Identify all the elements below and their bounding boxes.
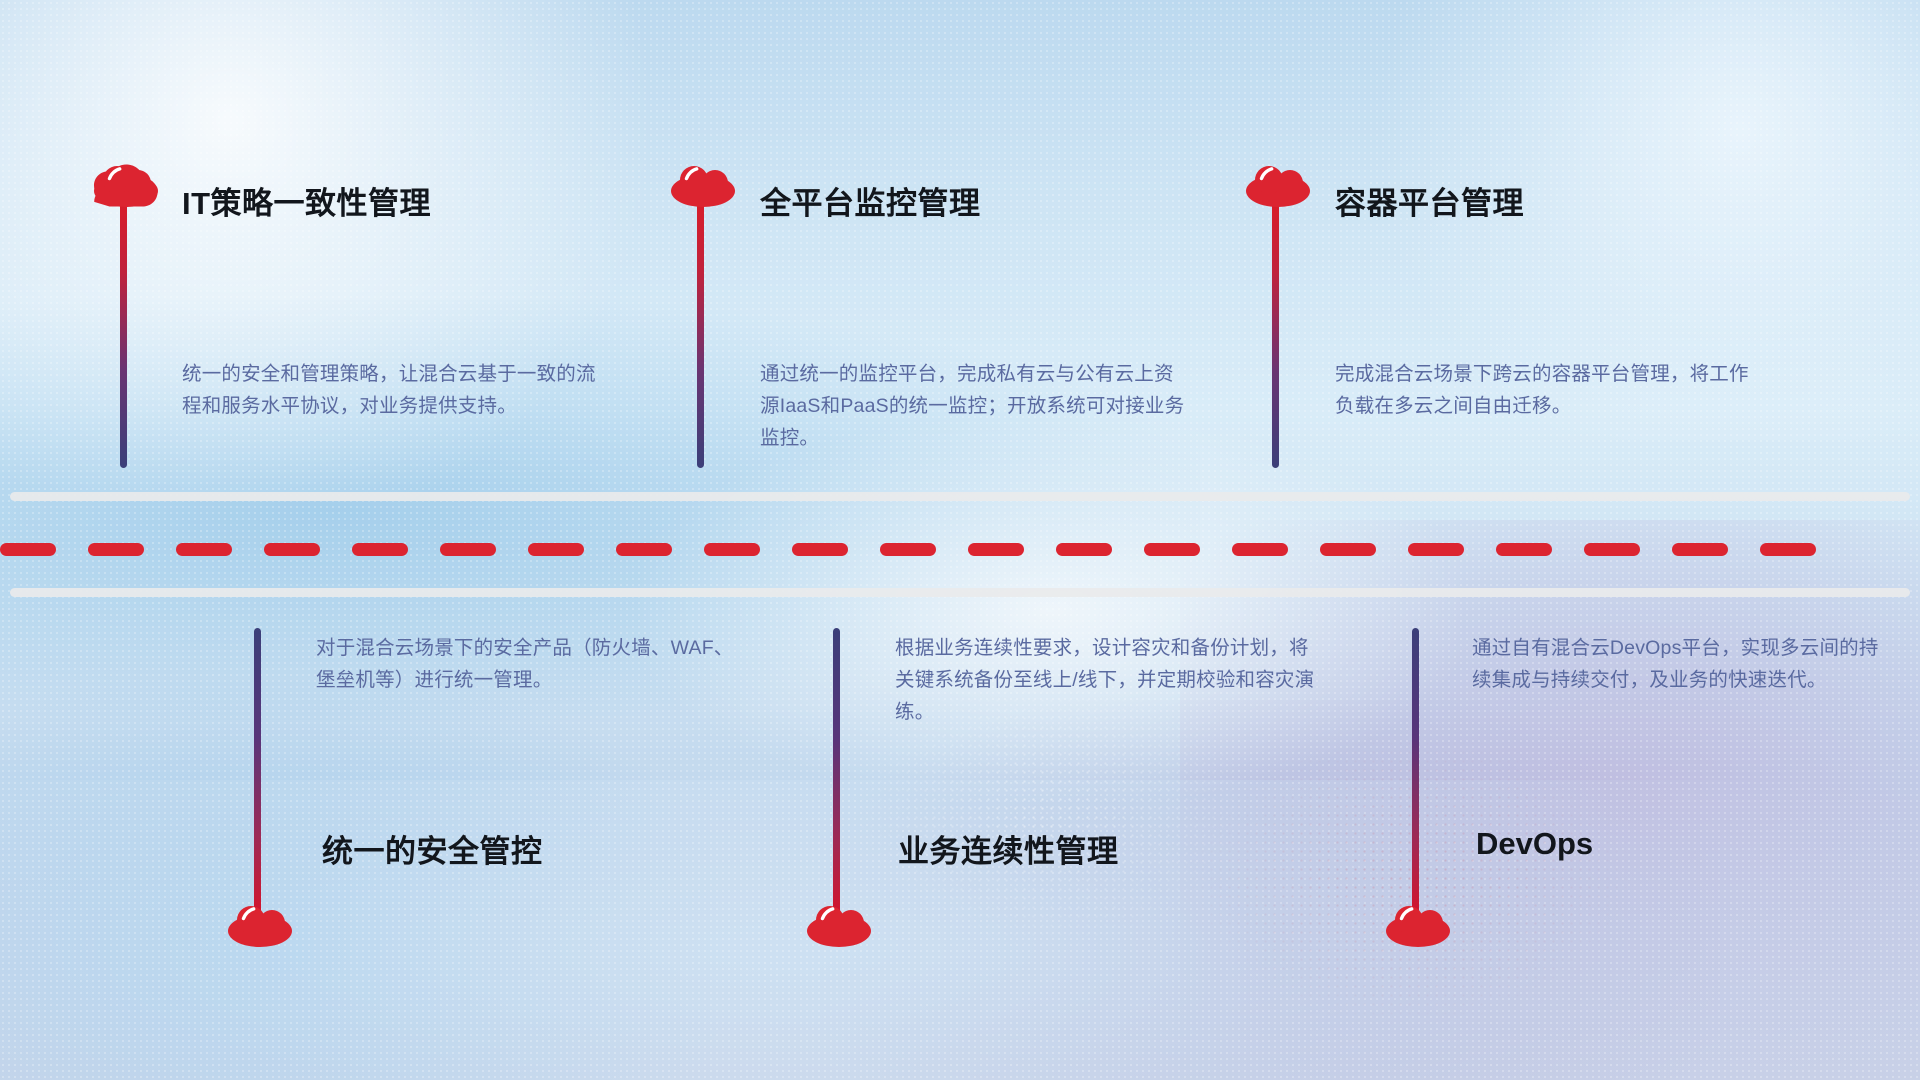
card-title: 全平台监控管理 — [760, 178, 981, 223]
cloud-icon — [93, 158, 159, 208]
divider-line-top — [10, 492, 1910, 501]
divider-dash-segment — [880, 543, 936, 556]
divider-dash-segment — [704, 543, 760, 556]
card-body: 统一的安全和管理策略，让混合云基于一致的流程和服务水平协议，对业务提供支持。 — [182, 358, 607, 422]
cloud-icon — [806, 898, 872, 948]
connector-bar — [833, 628, 840, 916]
divider-dash-segment — [528, 543, 584, 556]
divider-line-bottom — [10, 588, 1910, 597]
connector-bar — [254, 628, 261, 916]
divider-dash-segment — [352, 543, 408, 556]
divider-dash-segment — [1056, 543, 1112, 556]
cloud-icon — [670, 158, 736, 208]
cloud-icon — [227, 898, 293, 948]
divider-dash-segment — [176, 543, 232, 556]
card-title: IT策略一致性管理 — [182, 178, 431, 223]
divider-dash-segment — [1584, 543, 1640, 556]
cloud-icon — [1385, 898, 1451, 948]
connector-bar — [1272, 180, 1279, 468]
card-body: 对于混合云场景下的安全产品（防火墙、WAF、堡垒机等）进行统一管理。 — [316, 632, 741, 696]
card-title: 业务连续性管理 — [898, 826, 1119, 871]
divider-dash-segment — [440, 543, 496, 556]
divider-dash-segment — [1144, 543, 1200, 556]
divider-dash-segment — [792, 543, 848, 556]
divider-dash-segment — [88, 543, 144, 556]
card-body: 完成混合云场景下跨云的容器平台管理，将工作负载在多云之间自由迁移。 — [1335, 358, 1760, 422]
card-title: 统一的安全管控 — [322, 826, 543, 871]
card-title: 容器平台管理 — [1335, 178, 1524, 223]
divider-dash-segment — [1320, 543, 1376, 556]
card-title: DevOps — [1476, 826, 1593, 862]
card-body: 根据业务连续性要求，设计容灾和备份计划，将关键系统备份至线上/线下，并定期校验和… — [895, 632, 1320, 728]
divider-dash-segment — [968, 543, 1024, 556]
divider-dash-segment — [1760, 543, 1816, 556]
divider-dash-segment — [1496, 543, 1552, 556]
divider-dash-segment — [264, 543, 320, 556]
divider-dash-segment — [0, 543, 56, 556]
divider-dash-segment — [1408, 543, 1464, 556]
divider-dash-segment — [1672, 543, 1728, 556]
connector-bar — [120, 180, 127, 468]
divider-dash-segment — [1232, 543, 1288, 556]
connector-bar — [697, 180, 704, 468]
divider-dash-segment — [616, 543, 672, 556]
cloud-icon — [1245, 158, 1311, 208]
divider-dashed-red — [0, 543, 1920, 556]
connector-bar — [1412, 628, 1419, 916]
card-body: 通过自有混合云DevOps平台，实现多云间的持续集成与持续交付，及业务的快速迭代… — [1472, 632, 1897, 696]
card-body: 通过统一的监控平台，完成私有云与公有云上资源IaaS和PaaS的统一监控；开放系… — [760, 358, 1185, 454]
